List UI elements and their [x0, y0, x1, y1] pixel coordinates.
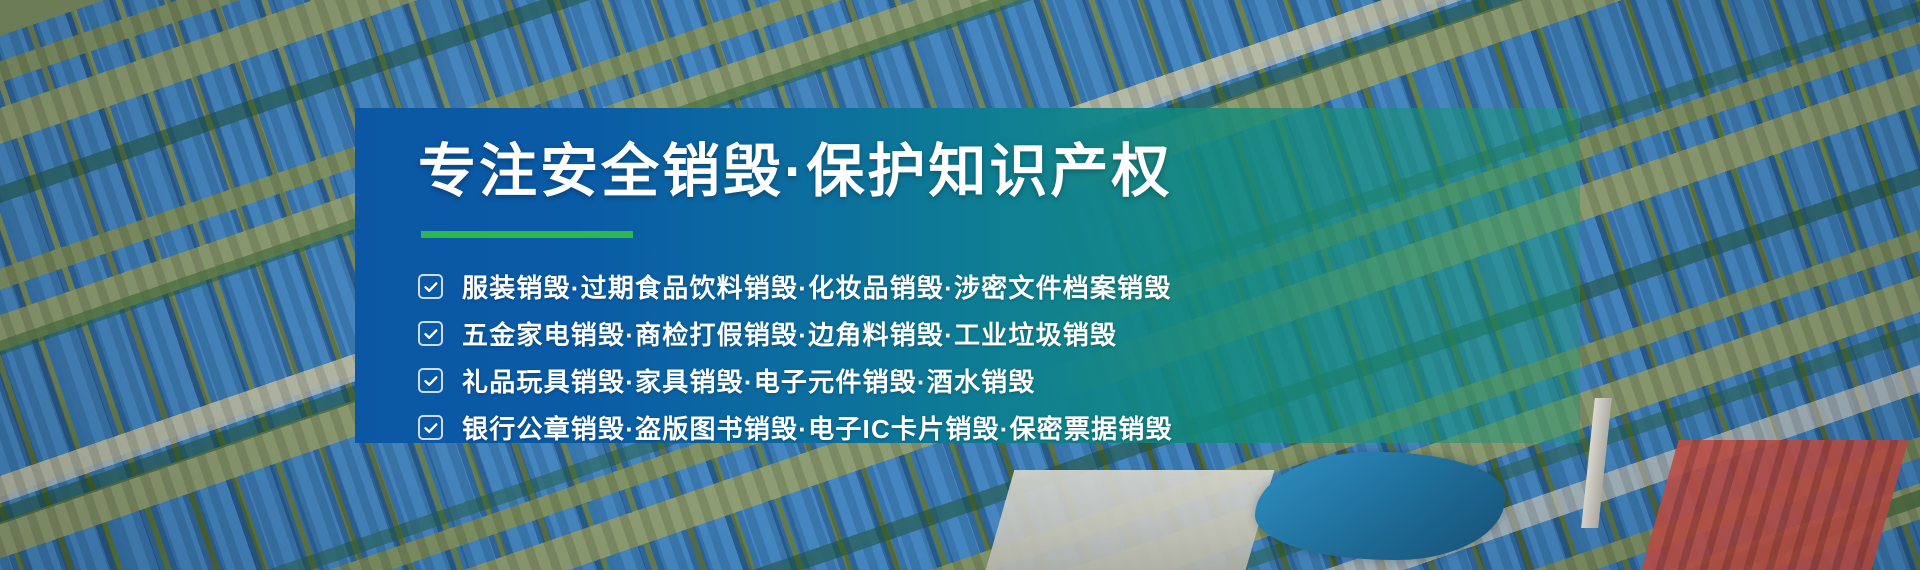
checkbox-checked-icon: [418, 321, 443, 346]
checkbox-checked-icon: [418, 368, 443, 393]
page-title: 专注安全销毁·保护知识产权: [418, 138, 1580, 205]
checkbox-checked-icon: [418, 415, 443, 440]
checkbox-checked-icon: [418, 274, 443, 299]
service-label: 服装销毁·过期食品饮料销毁·化妆品销毁·涉密文件档案销毁: [462, 268, 1172, 305]
list-item: 银行公章销毁·盗版图书销毁·电子IC卡片销毁·保密票据销毁: [418, 407, 1580, 448]
service-list: 服装销毁·过期食品饮料销毁·化妆品销毁·涉密文件档案销毁 五金家电销毁·商检打假…: [418, 266, 1580, 448]
panel-content: 专注安全销毁·保护知识产权 服装销毁·过期食品饮料销毁·化妆品销毁·涉密文件档案…: [355, 108, 1580, 443]
overlay-panel: 专注安全销毁·保护知识产权 服装销毁·过期食品饮料销毁·化妆品销毁·涉密文件档案…: [355, 108, 1580, 443]
list-item: 服装销毁·过期食品饮料销毁·化妆品销毁·涉密文件档案销毁: [418, 266, 1580, 307]
list-item: 礼品玩具销毁·家具销毁·电子元件销毁·酒水销毁: [418, 360, 1580, 401]
hero-banner: 专注安全销毁·保护知识产权 服装销毁·过期食品饮料销毁·化妆品销毁·涉密文件档案…: [0, 0, 1920, 570]
title-divider: [421, 231, 633, 238]
service-label: 银行公章销毁·盗版图书销毁·电子IC卡片销毁·保密票据销毁: [462, 409, 1173, 446]
list-item: 五金家电销毁·商检打假销毁·边角料销毁·工业垃圾销毁: [418, 313, 1580, 354]
service-label: 礼品玩具销毁·家具销毁·电子元件销毁·酒水销毁: [462, 362, 1036, 399]
service-label: 五金家电销毁·商检打假销毁·边角料销毁·工业垃圾销毁: [462, 315, 1117, 352]
